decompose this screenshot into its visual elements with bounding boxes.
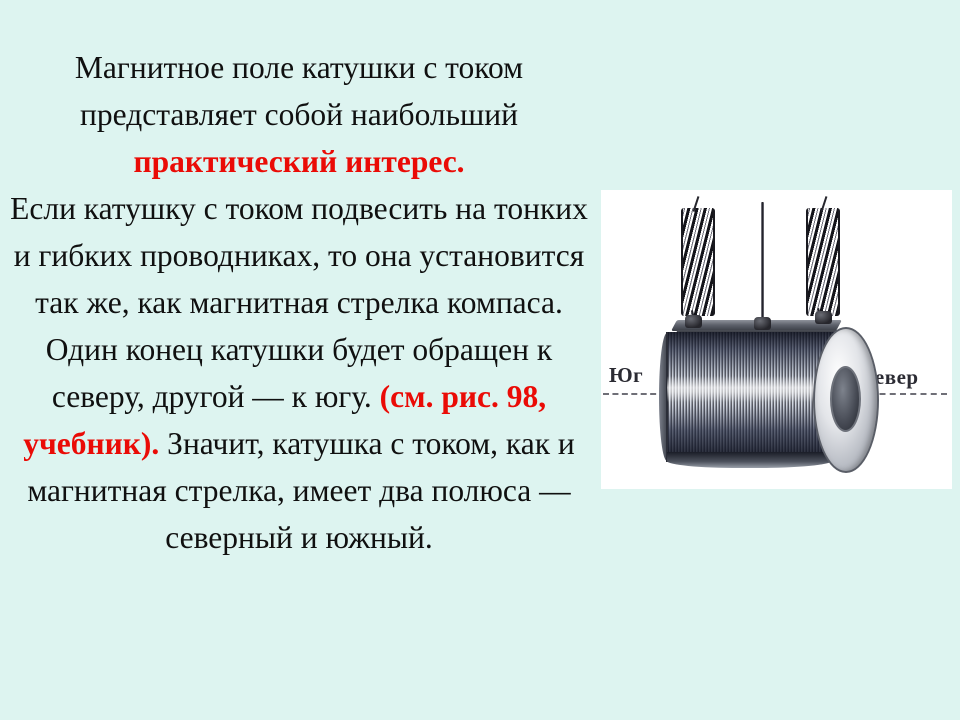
highlight-practical-interest: практический интерес. [133, 144, 464, 179]
spring-right-icon [806, 208, 836, 316]
spring-left-helix [681, 208, 715, 316]
paragraph-two: Если катушку с током подвесить на тонких… [10, 185, 588, 561]
text-line-1: Магнитное поле катушки с током [75, 50, 523, 85]
coil-bore [830, 366, 861, 432]
text-line-2: представляет собой наибольший [80, 97, 518, 132]
clamp-left [685, 315, 702, 328]
spring-left-icon [681, 208, 711, 316]
paragraph-one: Магнитное поле катушки с током представл… [10, 44, 588, 185]
coil-assembly [601, 190, 952, 489]
suspension-wire [761, 202, 764, 324]
slide-canvas: Магнитное поле катушки с током представл… [0, 0, 960, 720]
figure-panel: Юг Север [601, 190, 952, 489]
coil-illustration: Юг Север [601, 190, 952, 489]
lesson-text-block: Магнитное поле катушки с током представл… [10, 44, 588, 561]
clamp-middle [754, 317, 771, 330]
spring-right-helix [806, 208, 840, 316]
coil-bottom-lip [667, 452, 832, 468]
clamp-right [815, 311, 832, 324]
